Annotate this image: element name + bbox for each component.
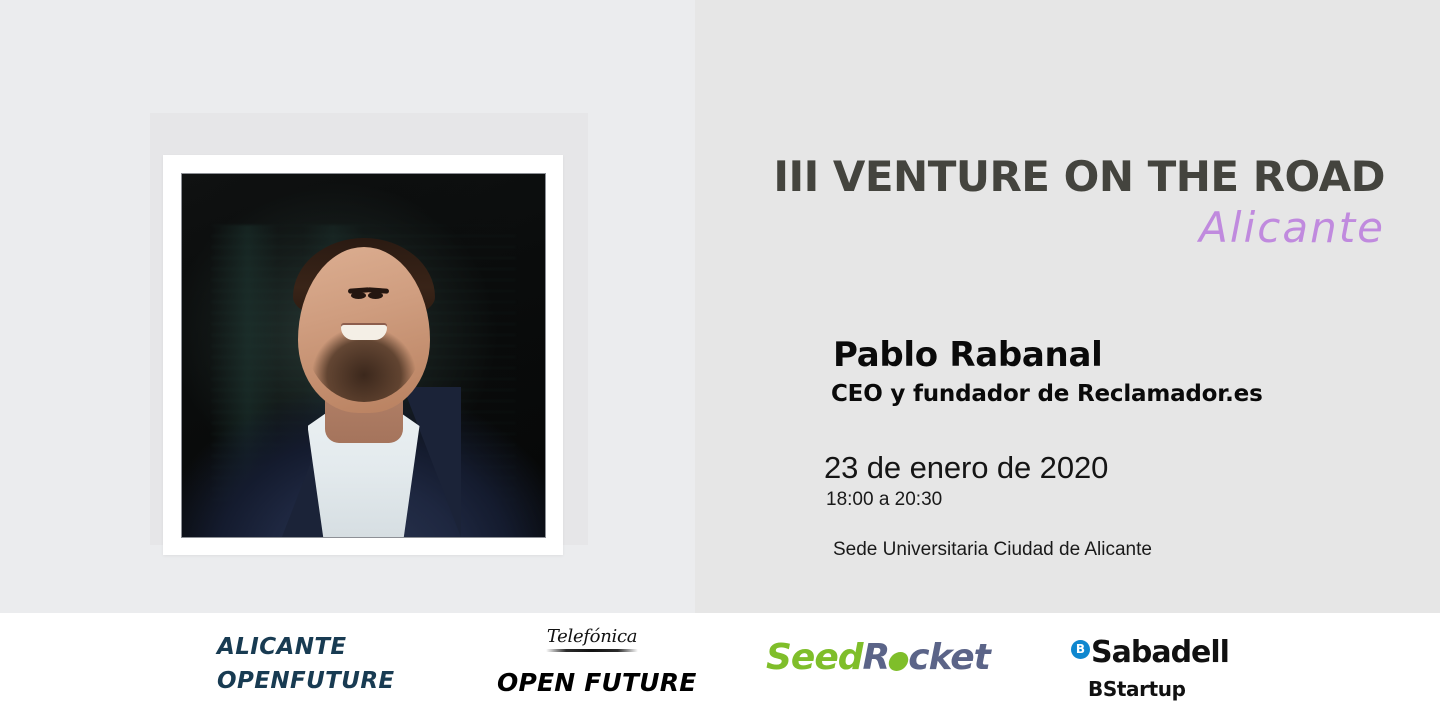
portrait-smile — [341, 325, 387, 340]
logo-bstartup-text: BStartup — [1088, 677, 1229, 701]
event-time: 18:00 a 20:30 — [826, 489, 942, 511]
logo-telefonica-swash-icon — [546, 649, 638, 652]
logo-alicante-open-future: ALICANTE OPENFUTURE — [217, 631, 395, 699]
logo-banco-sabadell-bstartup: B Sabadell BStartup — [1071, 639, 1229, 701]
portrait-frame — [163, 155, 563, 555]
logo-aof-line2: OPENFUTURE — [217, 665, 395, 699]
logo-seedrocket: SeedRcket — [766, 640, 990, 676]
page-title: III VENTURE ON THE ROAD — [773, 152, 1385, 201]
logo-aof-line1: ALICANTE — [217, 631, 395, 665]
logo-telefonica-open-future: Telefónica OPEN FUTURE — [497, 628, 687, 697]
speaker-name: Pablo Rabanal — [833, 335, 1102, 375]
logo-seedrocket-leaf-icon — [887, 652, 910, 671]
logo-seedrocket-r: R — [863, 637, 890, 678]
portrait-eye-right — [368, 292, 383, 299]
event-venue: Sede Universitaria Ciudad de Alicante — [833, 539, 1152, 561]
event-date: 23 de enero de 2020 — [824, 450, 1108, 486]
speaker-photo — [181, 173, 546, 538]
logo-seedrocket-seed: Seed — [766, 637, 863, 678]
speaker-role: CEO y fundador de Reclamador.es — [831, 381, 1263, 407]
background-panel-right — [695, 0, 1440, 613]
logo-telefonica-wordmark: Telefónica — [497, 628, 687, 647]
portrait-eye-left — [351, 292, 366, 299]
logo-open-future-text: OPEN FUTURE — [497, 668, 687, 697]
logo-sabadell-text: Sabadell — [1091, 639, 1229, 667]
page-subtitle-city: Alicante — [1199, 203, 1385, 252]
logo-seedrocket-cket: cket — [908, 637, 990, 678]
event-poster: III VENTURE ON THE ROAD Alicante Pablo R… — [0, 0, 1440, 715]
sabadell-b-mark-icon: B — [1071, 640, 1090, 659]
